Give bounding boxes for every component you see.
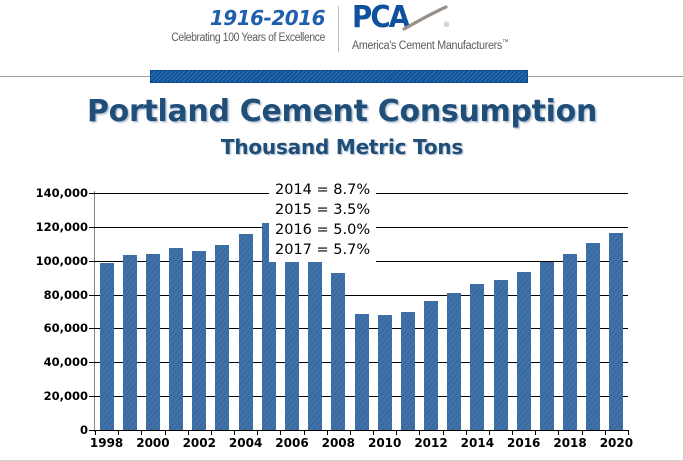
bar-chart: 020,00040,00060,00080,000100,000120,0001… <box>0 170 684 461</box>
y-axis-labels: 020,00040,00060,00080,000100,000120,0001… <box>0 170 88 461</box>
y-axis-tick-mark <box>89 227 95 228</box>
x-axis-tick-mark <box>419 430 420 435</box>
y-axis-tick-label: 0 <box>4 423 88 437</box>
pca-tagline-text: America's Cement Manufacturers <box>352 40 502 52</box>
bar <box>239 234 253 430</box>
pca-logo: PCA ® America's Cement Manufacturers™ <box>352 3 592 52</box>
x-axis-tick-mark <box>188 430 189 435</box>
x-axis-tick-mark <box>489 430 490 435</box>
x-axis-tick-label: 1998 <box>90 436 123 450</box>
x-axis-tick-mark <box>327 430 328 435</box>
x-axis-tick-label: 2016 <box>507 436 540 450</box>
x-axis-tick-mark <box>558 430 559 435</box>
blue-banner <box>150 70 528 83</box>
anniversary-years: 1916-2016 <box>135 8 325 29</box>
x-axis-tick-mark <box>234 430 235 435</box>
annotation-line: 2014 = 8.7% <box>275 180 370 200</box>
bar <box>563 254 577 430</box>
y-axis-tick-mark <box>89 261 95 262</box>
x-axis-tick-mark <box>443 430 444 435</box>
pca-registered-mark: ® <box>444 22 449 29</box>
bar <box>192 251 206 430</box>
pca-swoosh-icon <box>402 5 448 31</box>
pca-trademark-mark: ™ <box>502 39 508 46</box>
x-axis-tick-mark <box>257 430 258 435</box>
bar <box>540 262 554 430</box>
x-axis-tick-mark <box>280 430 281 435</box>
annotation-line: 2015 = 3.5% <box>275 200 370 220</box>
bar <box>447 293 461 430</box>
x-axis-tick-mark <box>350 430 351 435</box>
bar <box>517 272 531 430</box>
bar <box>586 243 600 430</box>
x-axis-tick-label: 2012 <box>414 436 447 450</box>
x-axis-tick-label: 2018 <box>553 436 586 450</box>
x-axis-tick-label: 2010 <box>368 436 401 450</box>
x-axis-tick-label: 2020 <box>600 436 633 450</box>
y-axis-tick-label: 20,000 <box>4 389 88 403</box>
bar <box>331 273 345 430</box>
x-axis-tick-mark <box>396 430 397 435</box>
x-axis-tick-label: 2002 <box>183 436 216 450</box>
bar <box>100 263 114 430</box>
x-axis-tick-label: 2008 <box>322 436 355 450</box>
annotation-line: 2016 = 5.0% <box>275 220 370 240</box>
x-axis-tick-mark <box>118 430 119 435</box>
bar <box>609 233 623 430</box>
chart-page: 1916-2016 Celebrating 100 Years of Excel… <box>0 0 684 461</box>
growth-annotation: 2014 = 8.7%2015 = 3.5%2016 = 5.0%2017 = … <box>269 179 376 262</box>
y-axis-tick-label: 120,000 <box>4 220 88 234</box>
x-axis-tick-mark <box>373 430 374 435</box>
bar <box>355 314 369 430</box>
y-axis-tick-mark <box>89 362 95 363</box>
bar <box>424 301 438 430</box>
x-axis-line <box>94 430 629 431</box>
x-axis-tick-mark <box>211 430 212 435</box>
page-subtitle: Thousand Metric Tons <box>0 135 684 159</box>
pca-tagline: America's Cement Manufacturers™ <box>352 39 575 52</box>
y-axis-tick-label: 140,000 <box>4 186 88 200</box>
bar <box>123 255 137 430</box>
bar <box>401 312 415 431</box>
x-axis-tick-label: 2004 <box>229 436 262 450</box>
x-axis-tick-mark <box>95 430 96 435</box>
x-axis-tick-mark <box>466 430 467 435</box>
anniversary-logo: 1916-2016 Celebrating 100 Years of Excel… <box>135 8 325 44</box>
anniversary-tagline: Celebrating 100 Years of Excellence <box>154 32 325 44</box>
y-axis-tick-label: 40,000 <box>4 355 88 369</box>
pca-logo-row: PCA ® <box>352 3 592 36</box>
header-divider <box>338 6 339 52</box>
y-axis-tick-label: 60,000 <box>4 321 88 335</box>
bar <box>308 246 322 430</box>
x-axis-tick-label: 2000 <box>136 436 169 450</box>
y-axis-tick-mark <box>89 193 95 194</box>
x-axis-tick-mark <box>582 430 583 435</box>
pca-wordmark: PCA <box>352 3 408 33</box>
x-axis-tick-mark <box>535 430 536 435</box>
y-axis-tick-label: 80,000 <box>4 288 88 302</box>
bar <box>470 284 484 430</box>
x-axis-tick-mark <box>628 430 629 435</box>
page-title: Portland Cement Consumption <box>0 94 684 129</box>
x-axis-tick-mark <box>304 430 305 435</box>
y-axis-tick-label: 100,000 <box>4 254 88 268</box>
page-header: 1916-2016 Celebrating 100 Years of Excel… <box>0 0 684 78</box>
y-axis-tick-mark <box>89 328 95 329</box>
x-axis-tick-label: 2014 <box>461 436 494 450</box>
bar <box>215 245 229 430</box>
x-axis-tick-mark <box>605 430 606 435</box>
bar <box>378 315 392 430</box>
y-axis-tick-mark <box>89 396 95 397</box>
y-axis-tick-mark <box>89 295 95 296</box>
annotation-line: 2017 = 5.7% <box>275 240 370 260</box>
x-axis-tick-mark <box>512 430 513 435</box>
x-axis-tick-mark <box>141 430 142 435</box>
x-axis-tick-mark <box>165 430 166 435</box>
bar <box>494 280 508 430</box>
bar <box>169 248 183 430</box>
bar <box>146 254 160 430</box>
x-axis-tick-label: 2006 <box>275 436 308 450</box>
